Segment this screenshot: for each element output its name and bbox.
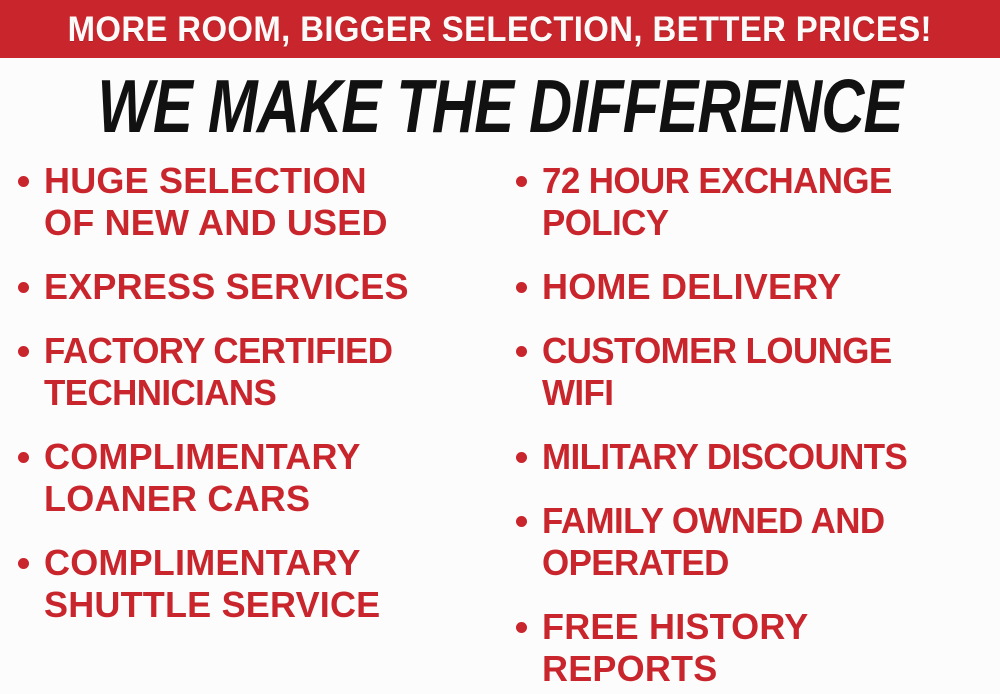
list-item: COMPLIMENTARY SHUTTLE SERVICE (18, 542, 498, 626)
list-item-label: COMPLIMENTARY LOANER CARS (44, 436, 361, 520)
list-item: 72 HOUR EXCHANGE POLICY (516, 160, 1000, 244)
bullet-dot-icon (516, 346, 527, 357)
list-item-label: HOME DELIVERY (542, 266, 841, 308)
list-item: MILITARY DISCOUNTS (516, 436, 1000, 478)
list-item-label: MILITARY DISCOUNTS (542, 436, 907, 478)
list-item: CUSTOMER LOUNGE WIFI (516, 330, 1000, 414)
page-title: WE MAKE THE DIFFERENCE (97, 70, 902, 145)
benefits-columns: HUGE SELECTION OF NEW AND USED EXPRESS S… (0, 160, 1000, 694)
list-item: FAMILY OWNED AND OPERATED (516, 500, 1000, 584)
list-item-label: CUSTOMER LOUNGE WIFI (542, 330, 892, 414)
list-item: HOME DELIVERY (516, 266, 1000, 308)
benefits-column-right: 72 HOUR EXCHANGE POLICY HOME DELIVERY CU… (516, 160, 1000, 694)
bullet-dot-icon (516, 282, 527, 293)
list-item-label: EXPRESS SERVICES (44, 266, 409, 308)
list-item-label: FAMILY OWNED AND OPERATED (542, 500, 885, 584)
bullet-dot-icon (516, 516, 527, 527)
list-item-label: HUGE SELECTION OF NEW AND USED (44, 160, 388, 244)
bullet-dot-icon (18, 452, 29, 463)
banner-headline-text: MORE ROOM, BIGGER SELECTION, BETTER PRIC… (68, 12, 932, 47)
headline-container: WE MAKE THE DIFFERENCE (0, 68, 1000, 146)
bullet-dot-icon (18, 558, 29, 569)
bullet-dot-icon (18, 346, 29, 357)
list-item-label: 72 HOUR EXCHANGE POLICY (542, 160, 892, 244)
list-item-label: COMPLIMENTARY SHUTTLE SERVICE (44, 542, 380, 626)
list-item: EXPRESS SERVICES (18, 266, 498, 308)
bullet-dot-icon (516, 452, 527, 463)
bullet-dot-icon (516, 176, 527, 187)
promo-poster: MORE ROOM, BIGGER SELECTION, BETTER PRIC… (0, 0, 1000, 694)
list-item: FACTORY CERTIFIED TECHNICIANS (18, 330, 498, 414)
bullet-dot-icon (18, 176, 29, 187)
list-item: COMPLIMENTARY LOANER CARS (18, 436, 498, 520)
top-banner: MORE ROOM, BIGGER SELECTION, BETTER PRIC… (0, 0, 1000, 58)
benefits-column-left: HUGE SELECTION OF NEW AND USED EXPRESS S… (18, 160, 498, 694)
list-item: FREE HISTORY REPORTS (516, 606, 1000, 690)
bullet-dot-icon (18, 282, 29, 293)
bullet-dot-icon (516, 622, 527, 633)
list-item-label: FREE HISTORY REPORTS (542, 606, 808, 690)
list-item-label: FACTORY CERTIFIED TECHNICIANS (44, 330, 392, 414)
list-item: HUGE SELECTION OF NEW AND USED (18, 160, 498, 244)
